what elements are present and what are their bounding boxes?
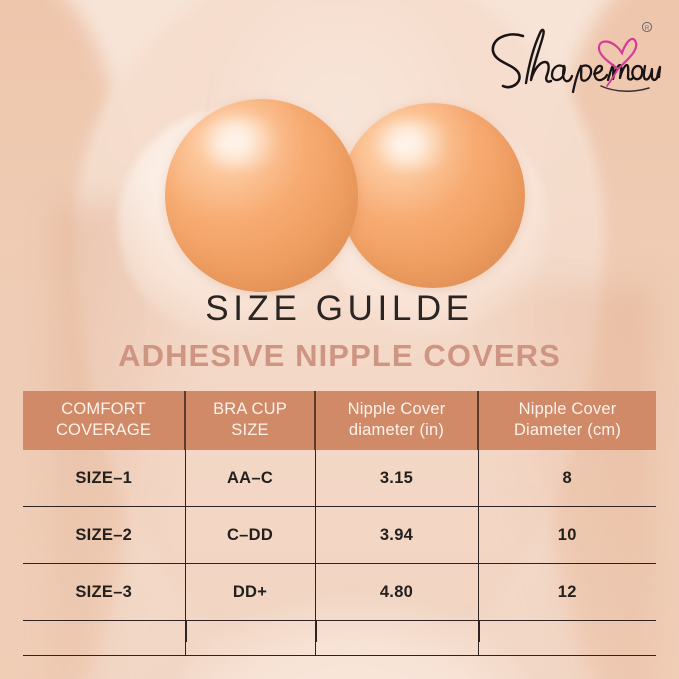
registered-trademark-icon: R bbox=[642, 22, 651, 32]
cell-bra-cup: DD+ bbox=[185, 564, 315, 621]
page-subtitle: ADHESIVE NIPPLE COVERS bbox=[0, 338, 679, 374]
page-title: SIZE GUILDE bbox=[0, 289, 679, 329]
cell-size: SIZE–1 bbox=[23, 450, 185, 507]
cell-diameter-cm bbox=[478, 621, 656, 656]
header-line-1: Nipple Cover bbox=[519, 400, 617, 418]
column-divider-stub-1 bbox=[185, 620, 187, 642]
column-header-bra-cup-size: BRA CUP SIZE bbox=[185, 391, 315, 450]
cell-diameter-in: 4.80 bbox=[315, 564, 478, 621]
header-line-1: COMFORT bbox=[61, 400, 146, 418]
table-body: SIZE–1 AA–C 3.15 8 SIZE–2 C–DD 3.94 10 S… bbox=[23, 450, 656, 656]
cell-diameter-cm: 10 bbox=[478, 507, 656, 564]
cell-size bbox=[23, 621, 185, 656]
cell-diameter-in: 3.94 bbox=[315, 507, 478, 564]
nipple-cover-right bbox=[340, 103, 525, 288]
cell-diameter-cm: 12 bbox=[478, 564, 656, 621]
cell-bra-cup: AA–C bbox=[185, 450, 315, 507]
header-line-1: BRA CUP bbox=[213, 400, 287, 418]
table-row: SIZE–1 AA–C 3.15 8 bbox=[23, 450, 656, 507]
cell-diameter-cm: 8 bbox=[478, 450, 656, 507]
header-line-1: Nipple Cover bbox=[348, 400, 446, 418]
table-row: SIZE–3 DD+ 4.80 12 bbox=[23, 564, 656, 621]
cell-diameter-in: 3.15 bbox=[315, 450, 478, 507]
cell-size: SIZE–3 bbox=[23, 564, 185, 621]
svg-text:R: R bbox=[645, 26, 650, 32]
table-row: SIZE–2 C–DD 3.94 10 bbox=[23, 507, 656, 564]
brand-logo: R bbox=[481, 20, 661, 98]
table-header: COMFORT COVERAGE BRA CUP SIZE Nipple Cov… bbox=[23, 391, 656, 450]
column-header-comfort-coverage: COMFORT COVERAGE bbox=[23, 391, 185, 450]
table-header-row: COMFORT COVERAGE BRA CUP SIZE Nipple Cov… bbox=[23, 391, 656, 450]
size-table: COMFORT COVERAGE BRA CUP SIZE Nipple Cov… bbox=[23, 391, 656, 656]
column-header-diameter-cm: Nipple Cover Diameter (cm) bbox=[478, 391, 656, 450]
header-line-2: Diameter (cm) bbox=[514, 421, 621, 439]
cell-size: SIZE–2 bbox=[23, 507, 185, 564]
header-line-2: diameter (in) bbox=[349, 421, 444, 439]
table-row-empty bbox=[23, 621, 656, 656]
size-table-container: COMFORT COVERAGE BRA CUP SIZE Nipple Cov… bbox=[23, 391, 656, 656]
size-guide-poster: R SIZE GUILDE ADHESIVE NIPPLE COVERS COM… bbox=[0, 0, 679, 679]
column-divider-stub-2 bbox=[315, 620, 317, 642]
header-line-2: SIZE bbox=[231, 421, 268, 439]
column-divider-stub-3 bbox=[478, 620, 480, 642]
header-line-2: COVERAGE bbox=[56, 421, 151, 439]
column-header-diameter-in: Nipple Cover diameter (in) bbox=[315, 391, 478, 450]
nipple-cover-left bbox=[165, 99, 358, 292]
cell-bra-cup bbox=[185, 621, 315, 656]
cell-bra-cup: C–DD bbox=[185, 507, 315, 564]
cell-diameter-in bbox=[315, 621, 478, 656]
